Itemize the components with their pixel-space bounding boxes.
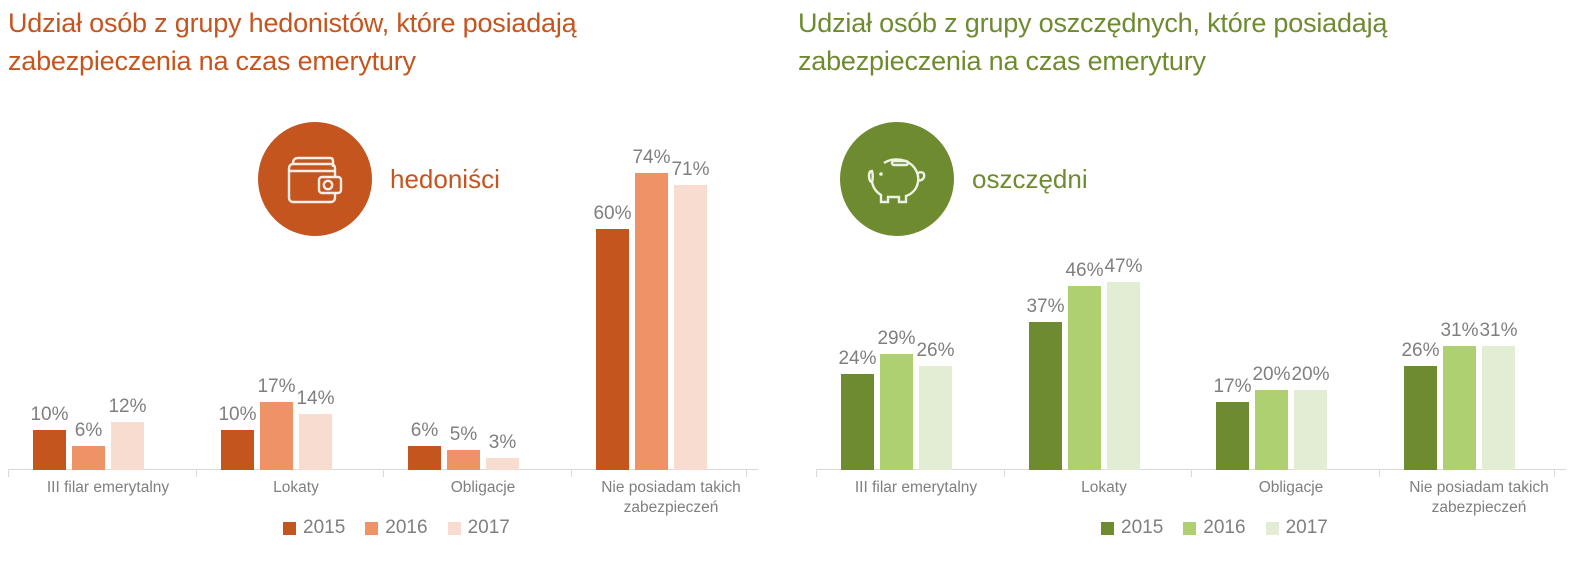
bar[interactable] [221, 430, 254, 470]
bar[interactable] [596, 229, 629, 470]
legend-swatch [448, 522, 461, 535]
axis-tick [1554, 470, 1555, 477]
bar[interactable] [1029, 322, 1062, 470]
bar-value-label: 12% [108, 396, 146, 418]
bar[interactable] [1404, 366, 1437, 470]
bar-group: 10%6%12% [33, 96, 183, 470]
bar-value-label: 60% [593, 203, 631, 225]
bar[interactable] [674, 185, 707, 470]
bar-value-label: 20% [1291, 364, 1329, 386]
bar-value-label: 6% [411, 420, 438, 442]
legend-oszczedni: 201520162017 [1101, 517, 1328, 539]
bar[interactable] [1443, 346, 1476, 470]
category-label: III filar emerytalny [33, 478, 183, 498]
legend-item[interactable]: 2017 [448, 517, 510, 539]
bar[interactable] [72, 446, 105, 470]
axis-tick [1004, 470, 1005, 477]
legend-label: 2015 [303, 517, 345, 539]
category-label: Obligacje [1216, 478, 1366, 498]
bar-value-label: 29% [877, 328, 915, 350]
category-label: Lokaty [1029, 478, 1179, 498]
bar-group: 60%74%71% [596, 96, 746, 470]
category-label: Lokaty [221, 478, 371, 498]
legend-label: 2015 [1121, 517, 1163, 539]
bar-chart-hedonisci: 10%6%12%10%17%14%6%5%3%60%74%71% III fil… [8, 96, 758, 470]
page-title: Udział osób z grupy oszczędnych, które p… [798, 4, 1498, 80]
bar-value-label: 17% [1213, 376, 1251, 398]
legend-swatch [1101, 522, 1114, 535]
axis-tick [8, 470, 9, 477]
category-label: Nie posiadam takich zabezpieczeń [596, 478, 746, 518]
bar-value-label: 6% [75, 420, 102, 442]
category-label: Obligacje [408, 478, 558, 498]
bar-group: 10%17%14% [221, 96, 371, 470]
legend-swatch [1183, 522, 1196, 535]
bar[interactable] [841, 374, 874, 470]
axis-tick [383, 470, 384, 477]
bar-group: 6%5%3% [408, 96, 558, 470]
bar-value-label: 3% [489, 432, 516, 454]
bar[interactable] [33, 430, 66, 470]
bar-value-label: 37% [1026, 296, 1064, 318]
bar-value-label: 26% [916, 340, 954, 362]
bar[interactable] [447, 450, 480, 470]
legend-item[interactable]: 2015 [1101, 517, 1163, 539]
bar-group: 17%20%20% [1216, 96, 1366, 470]
legend-item[interactable]: 2016 [1183, 517, 1245, 539]
bar-value-label: 24% [838, 348, 876, 370]
bar[interactable] [111, 422, 144, 470]
bar[interactable] [880, 354, 913, 470]
chart-pair: Udział osób z grupy hedonistów, które po… [0, 0, 1580, 566]
bar-value-label: 71% [671, 159, 709, 181]
bar[interactable] [299, 414, 332, 470]
bar-value-label: 46% [1065, 260, 1103, 282]
bar[interactable] [635, 173, 668, 470]
legend-label: 2017 [1286, 517, 1328, 539]
bar[interactable] [1482, 346, 1515, 470]
bar[interactable] [408, 446, 441, 470]
bar-value-label: 74% [632, 147, 670, 169]
bar[interactable] [260, 402, 293, 470]
axis-tick [571, 470, 572, 477]
bar-value-label: 20% [1252, 364, 1290, 386]
bar-value-label: 26% [1401, 340, 1439, 362]
bar-group: 37%46%47% [1029, 96, 1179, 470]
category-label: III filar emerytalny [841, 478, 991, 498]
bar-value-label: 47% [1104, 256, 1142, 278]
bar-chart-oszczedni: 24%29%26%37%46%47%17%20%20%26%31%31% III… [816, 96, 1566, 470]
panel-hedonisci: Udział osób z grupy hedonistów, które po… [0, 0, 790, 566]
bar[interactable] [1216, 402, 1249, 470]
legend-label: 2016 [385, 517, 427, 539]
axis-tick [196, 470, 197, 477]
legend-swatch [283, 522, 296, 535]
bar-value-label: 31% [1440, 320, 1478, 342]
bar[interactable] [1107, 282, 1140, 470]
legend-item[interactable]: 2015 [283, 517, 345, 539]
bar-value-label: 10% [218, 404, 256, 426]
legend-swatch [365, 522, 378, 535]
legend-swatch [1266, 522, 1279, 535]
bar[interactable] [919, 366, 952, 470]
bar-group: 26%31%31% [1404, 96, 1554, 470]
bar[interactable] [1255, 390, 1288, 470]
legend-item[interactable]: 2016 [365, 517, 427, 539]
axis-tick [816, 470, 817, 477]
category-label: Nie posiadam takich zabezpieczeń [1404, 478, 1554, 518]
bar-value-label: 14% [296, 388, 334, 410]
legend-item[interactable]: 2017 [1266, 517, 1328, 539]
bar-group: 24%29%26% [841, 96, 991, 470]
legend-hedonisci: 201520162017 [283, 517, 510, 539]
bar-value-label: 31% [1479, 320, 1517, 342]
page-title: Udział osób z grupy hedonistów, które po… [8, 4, 708, 80]
bar-value-label: 10% [30, 404, 68, 426]
bar[interactable] [1068, 286, 1101, 470]
axis-tick [1191, 470, 1192, 477]
panel-oszczedni: Udział osób z grupy oszczędnych, które p… [790, 0, 1580, 566]
axis-tick [1379, 470, 1380, 477]
bar-value-label: 17% [257, 376, 295, 398]
bar-value-label: 5% [450, 424, 477, 446]
axis-tick [746, 470, 747, 477]
bar[interactable] [486, 458, 519, 470]
legend-label: 2017 [468, 517, 510, 539]
legend-label: 2016 [1203, 517, 1245, 539]
bar[interactable] [1294, 390, 1327, 470]
